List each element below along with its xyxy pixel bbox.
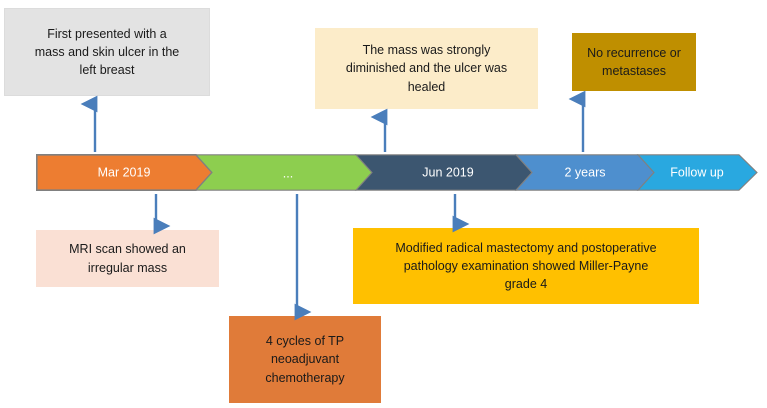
timeline-segment-ellipsis[interactable]: ... [196, 155, 372, 190]
timeline-segment-label-mar-2019: Mar 2019 [98, 165, 151, 179]
timeline-segment-label-follow-up: Follow up [670, 165, 724, 179]
timeline-segment-label-ellipsis: ... [283, 166, 293, 180]
timeline-bar: Mar 2019 ... Jun 2019 2 years Follow up [36, 154, 758, 191]
connector-layer [0, 0, 767, 408]
timeline-segment-two-years[interactable]: 2 years [516, 155, 654, 190]
timeline-diagram: First presented with a mass and skin ulc… [0, 0, 767, 408]
timeline-segment-label-two-years: 2 years [565, 165, 606, 179]
timeline-segment-jun-2019[interactable]: Jun 2019 [356, 155, 532, 190]
timeline-segment-label-jun-2019: Jun 2019 [422, 165, 473, 179]
timeline-segment-follow-up[interactable]: Follow up [638, 155, 757, 190]
timeline-segment-mar-2019[interactable]: Mar 2019 [37, 155, 212, 190]
